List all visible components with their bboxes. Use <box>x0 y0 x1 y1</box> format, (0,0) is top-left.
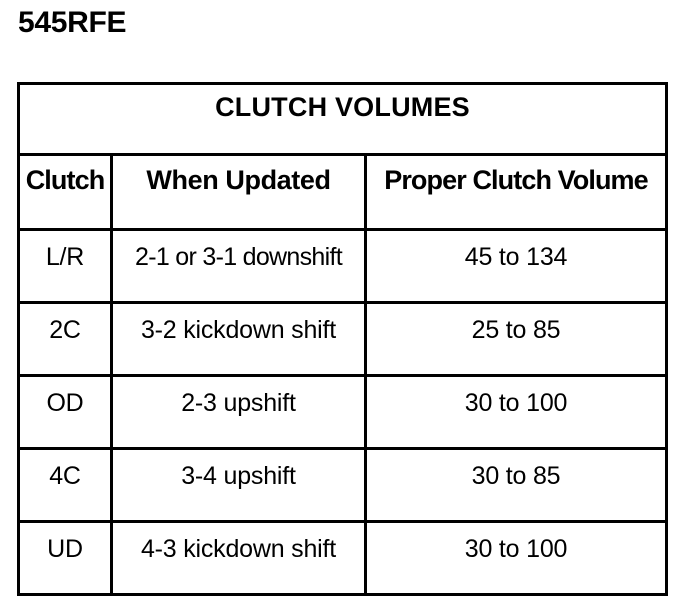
table-row: UD 4-3 kickdown shift 30 to 100 <box>19 522 667 595</box>
table-header-row: Clutch When Updated Proper Clutch Volume <box>19 155 667 230</box>
table-caption-row: CLUTCH VOLUMES <box>19 84 667 155</box>
cell-when-updated-text: 3-2 kickdown shift <box>113 304 364 344</box>
cell-clutch: L/R <box>19 230 112 303</box>
cell-clutch: 2C <box>19 303 112 376</box>
table-row: OD 2-3 upshift 30 to 100 <box>19 376 667 449</box>
cell-clutch-text: UD <box>20 523 110 563</box>
cell-proper-volume-text: 30 to 85 <box>367 450 665 490</box>
table-row: 2C 3-2 kickdown shift 25 to 85 <box>19 303 667 376</box>
cell-clutch: 4C <box>19 449 112 522</box>
table-row: L/R 2-1 or 3-1 downshift 45 to 134 <box>19 230 667 303</box>
clutch-volumes-table: CLUTCH VOLUMES Clutch When Updated Prope… <box>17 82 668 596</box>
column-header-proper-volume-label: Proper Clutch Volume <box>367 156 665 194</box>
cell-proper-volume: 45 to 134 <box>366 230 667 303</box>
cell-clutch-text: 4C <box>20 450 110 490</box>
cell-proper-volume: 30 to 100 <box>366 376 667 449</box>
cell-proper-volume-text: 30 to 100 <box>367 377 665 417</box>
cell-proper-volume: 30 to 100 <box>366 522 667 595</box>
page-title: 545RFE <box>18 6 126 40</box>
column-header-proper-volume: Proper Clutch Volume <box>366 155 667 230</box>
column-header-clutch-label: Clutch <box>20 156 110 194</box>
column-header-when-updated: When Updated <box>112 155 366 230</box>
table-caption-text: CLUTCH VOLUMES <box>20 85 665 121</box>
column-header-clutch: Clutch <box>19 155 112 230</box>
cell-clutch-text: OD <box>20 377 110 417</box>
cell-when-updated-text: 2-1 or 3-1 downshift <box>113 231 364 271</box>
cell-clutch: OD <box>19 376 112 449</box>
cell-proper-volume-text: 45 to 134 <box>367 231 665 271</box>
cell-when-updated: 4-3 kickdown shift <box>112 522 366 595</box>
column-header-when-updated-label: When Updated <box>113 156 364 194</box>
table-row: 4C 3-4 upshift 30 to 85 <box>19 449 667 522</box>
cell-when-updated-text: 2-3 upshift <box>113 377 364 417</box>
cell-clutch: UD <box>19 522 112 595</box>
clutch-volumes-table-container: CLUTCH VOLUMES Clutch When Updated Prope… <box>17 82 665 578</box>
cell-when-updated: 3-2 kickdown shift <box>112 303 366 376</box>
cell-proper-volume: 30 to 85 <box>366 449 667 522</box>
cell-when-updated: 3-4 upshift <box>112 449 366 522</box>
cell-proper-volume-text: 30 to 100 <box>367 523 665 563</box>
table-caption-cell: CLUTCH VOLUMES <box>19 84 667 155</box>
cell-when-updated-text: 3-4 upshift <box>113 450 364 490</box>
cell-proper-volume: 25 to 85 <box>366 303 667 376</box>
cell-when-updated: 2-3 upshift <box>112 376 366 449</box>
cell-proper-volume-text: 25 to 85 <box>367 304 665 344</box>
cell-clutch-text: L/R <box>20 231 110 271</box>
cell-when-updated: 2-1 or 3-1 downshift <box>112 230 366 303</box>
cell-clutch-text: 2C <box>20 304 110 344</box>
cell-when-updated-text: 4-3 kickdown shift <box>113 523 364 563</box>
